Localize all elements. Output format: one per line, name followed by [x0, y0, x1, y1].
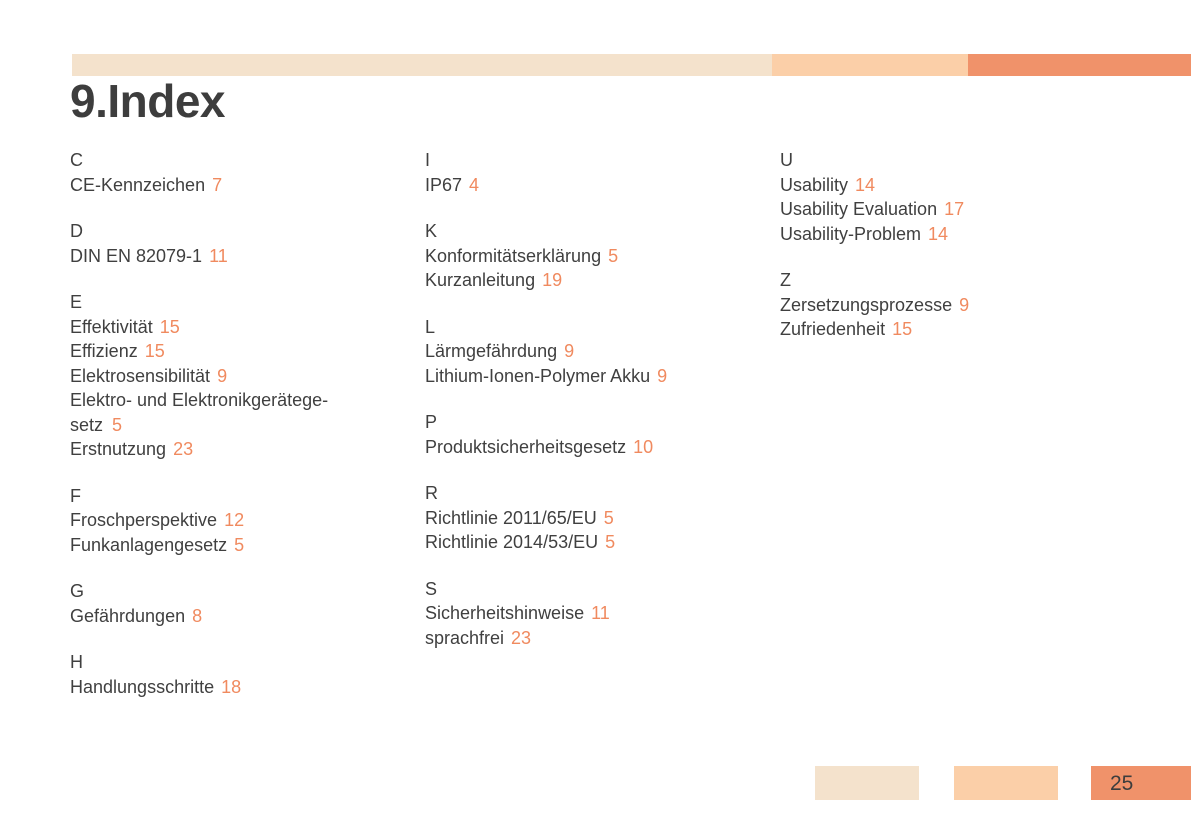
index-entry-term: Usability	[780, 175, 848, 195]
index-entry[interactable]: Elektrosensibilität9	[70, 364, 425, 389]
index-entry[interactable]: Lärmgefährdung9	[425, 339, 780, 364]
index-columns: CCE-Kennzeichen7DDIN EN 82079-111EEffekt…	[70, 148, 1130, 699]
letter-group: IIP674	[425, 148, 780, 197]
index-entry-page: 19	[542, 270, 562, 290]
letter-group: EEffektivität15Effizienz15Elektrosensibi…	[70, 290, 425, 462]
page-number: 25	[1110, 773, 1133, 794]
index-entry-term: Handlungsschritte	[70, 677, 214, 697]
index-entry-page: 15	[892, 319, 912, 339]
group-letter: R	[425, 481, 780, 506]
footer-block-page-number: 25	[1091, 766, 1191, 800]
index-entry-page: 23	[173, 439, 193, 459]
index-entry[interactable]: Lithium-Ionen-Polymer Akku9	[425, 364, 780, 389]
index-entry[interactable]: Usability14	[780, 173, 1130, 198]
index-entry-page: 14	[928, 224, 948, 244]
index-entry-term: Lärmgefährdung	[425, 341, 557, 361]
index-entry-term: Effektivität	[70, 317, 153, 337]
header-bar-segment-mid	[772, 54, 968, 76]
index-entry-page: 7	[212, 175, 222, 195]
index-entry-page: 18	[221, 677, 241, 697]
index-entry-page: 9	[217, 366, 227, 386]
group-letter: L	[425, 315, 780, 340]
index-entry[interactable]: sprachfrei23	[425, 626, 780, 651]
letter-group: ZZersetzungsprozesse9Zufriedenheit15	[780, 268, 1130, 342]
group-letter: U	[780, 148, 1130, 173]
index-entry[interactable]: Kurzanleitung19	[425, 268, 780, 293]
index-column-3: UUsability14Usability Evaluation17Usabil…	[780, 148, 1130, 342]
group-letter: H	[70, 650, 425, 675]
index-entry-term: CE-Kennzeichen	[70, 175, 205, 195]
group-letter: Z	[780, 268, 1130, 293]
index-entry-page: 5	[605, 532, 615, 552]
index-entry-page: 10	[633, 437, 653, 457]
index-entry-page: 5	[234, 535, 244, 555]
index-entry-page: 9	[564, 341, 574, 361]
footer-block-light	[815, 766, 919, 800]
header-bar-segment-dark	[968, 54, 1191, 76]
index-entry[interactable]: Konformitätserklärung5	[425, 244, 780, 269]
group-letter: K	[425, 219, 780, 244]
index-entry[interactable]: Richtlinie 2014/53/EU5	[425, 530, 780, 555]
index-entry-page: 11	[591, 603, 610, 623]
group-letter: S	[425, 577, 780, 602]
index-entry-term: Usability Evaluation	[780, 199, 937, 219]
index-entry-page: 5	[604, 508, 614, 528]
index-entry-term: Erstnutzung	[70, 439, 166, 459]
index-entry[interactable]: Zersetzungsprozesse9	[780, 293, 1130, 318]
group-letter: D	[70, 219, 425, 244]
index-entry-term: DIN EN 82079-1	[70, 246, 202, 266]
index-entry-page: 15	[145, 341, 165, 361]
letter-group: LLärmgefährdung9Lithium-Ionen-Polymer Ak…	[425, 315, 780, 389]
index-entry-page: 8	[192, 606, 202, 626]
index-entry-term: Lithium-Ionen-Polymer Akku	[425, 366, 650, 386]
index-entry[interactable]: Funkanlagengesetz5	[70, 533, 425, 558]
index-entry[interactable]: Usability-Problem14	[780, 222, 1130, 247]
index-entry-term: Zersetzungsprozesse	[780, 295, 952, 315]
index-entry-page: 14	[855, 175, 875, 195]
letter-group: RRichtlinie 2011/65/EU5Richtlinie 2014/5…	[425, 481, 780, 555]
index-entry-term: sprachfrei	[425, 628, 504, 648]
index-entry[interactable]: Produktsicherheitsgesetz10	[425, 435, 780, 460]
index-entry-term: Usability-Problem	[780, 224, 921, 244]
letter-group: DDIN EN 82079-111	[70, 219, 425, 268]
index-entry[interactable]: Zufriedenheit15	[780, 317, 1130, 342]
index-entry-page: 4	[469, 175, 479, 195]
index-column-1: CCE-Kennzeichen7DDIN EN 82079-111EEffekt…	[70, 148, 425, 699]
group-letter: C	[70, 148, 425, 173]
footer-block-mid	[954, 766, 1058, 800]
page-title: 9.Index	[70, 78, 225, 124]
index-entry-page: 12	[224, 510, 244, 530]
index-entry-term: Elektro- und Elektronikgerätege-	[70, 390, 328, 410]
index-entry[interactable]: Sicherheitshinweise11	[425, 601, 780, 626]
index-entry-term: Richtlinie 2011/65/EU	[425, 508, 597, 528]
group-letter: G	[70, 579, 425, 604]
group-letter: P	[425, 410, 780, 435]
header-accent-bar	[72, 54, 1191, 76]
index-entry[interactable]: Usability Evaluation17	[780, 197, 1130, 222]
index-entry-page: 9	[959, 295, 969, 315]
header-bar-segment-light	[72, 54, 772, 76]
index-entry-term: Kurzanleitung	[425, 270, 535, 290]
group-letter: I	[425, 148, 780, 173]
index-entry-term: Zufriedenheit	[780, 319, 885, 339]
index-entry-term: Elektrosensibilität	[70, 366, 210, 386]
index-entry-term-continued: setz 5	[70, 413, 425, 438]
group-letter: E	[70, 290, 425, 315]
letter-group: HHandlungsschritte18	[70, 650, 425, 699]
index-entry[interactable]: IP674	[425, 173, 780, 198]
index-entry-page: 23	[511, 628, 531, 648]
letter-group: GGefährdungen8	[70, 579, 425, 628]
index-entry-page: 17	[944, 199, 964, 219]
index-entry-term: Konformitätserklärung	[425, 246, 601, 266]
letter-group: PProduktsicherheitsgesetz10	[425, 410, 780, 459]
index-entry[interactable]: Richtlinie 2011/65/EU5	[425, 506, 780, 531]
index-entry[interactable]: CE-Kennzeichen7	[70, 173, 425, 198]
index-entry[interactable]: Elektro- und Elektronikgerätege-setz 5	[70, 388, 425, 437]
index-entry-page: 15	[160, 317, 180, 337]
index-entry-term: Effizienz	[70, 341, 138, 361]
index-entry-page: 5	[608, 246, 618, 266]
letter-group: FFroschperspektive12Funkanlagengesetz5	[70, 484, 425, 558]
letter-group: UUsability14Usability Evaluation17Usabil…	[780, 148, 1130, 246]
index-column-2: IIP674KKonformitätserklärung5Kurzanleitu…	[425, 148, 780, 650]
letter-group: SSicherheitshinweise11sprachfrei23	[425, 577, 780, 651]
index-entry-page: 5	[112, 415, 122, 435]
index-entry[interactable]: Gefährdungen8	[70, 604, 425, 629]
letter-group: CCE-Kennzeichen7	[70, 148, 425, 197]
index-entry-term: Funkanlagengesetz	[70, 535, 227, 555]
footer-accent-blocks: 25	[815, 766, 1191, 800]
index-entry[interactable]: Froschperspektive12	[70, 508, 425, 533]
index-entry[interactable]: Effizienz15	[70, 339, 425, 364]
index-entry-term: Richtlinie 2014/53/EU	[425, 532, 598, 552]
index-entry-page: 9	[657, 366, 667, 386]
index-entry-term: Produktsicherheitsgesetz	[425, 437, 626, 457]
index-entry[interactable]: Effektivität15	[70, 315, 425, 340]
index-entry[interactable]: Handlungsschritte18	[70, 675, 425, 700]
group-letter: F	[70, 484, 425, 509]
index-entry[interactable]: DIN EN 82079-111	[70, 244, 425, 269]
index-entry[interactable]: Erstnutzung23	[70, 437, 425, 462]
index-entry-term: IP67	[425, 175, 462, 195]
index-entry-term: Gefährdungen	[70, 606, 185, 626]
index-entry-page: 11	[209, 246, 228, 266]
letter-group: KKonformitätserklärung5Kurzanleitung19	[425, 219, 780, 293]
index-entry-term: Sicherheitshinweise	[425, 603, 584, 623]
index-entry-term: Froschperspektive	[70, 510, 217, 530]
